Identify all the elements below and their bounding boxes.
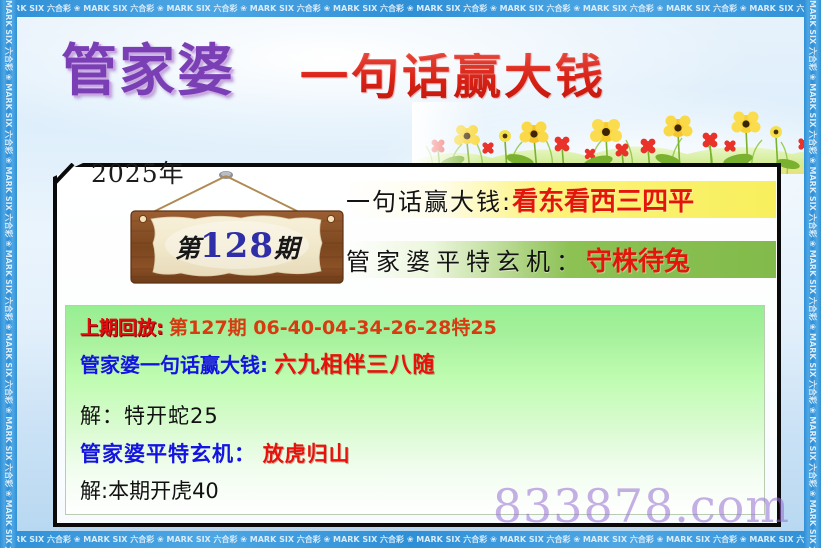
banner-pingte-value: 守株待兔: [586, 241, 690, 278]
border-left: MARK SIX 六合彩 ❀ MARK SIX 六合彩 ❀ MARK SIX 六…: [0, 0, 17, 548]
last-slogan-label: 管家婆一句话赢大钱:: [80, 353, 268, 377]
border-top-text: MARK SIX 六合彩 ❀ MARK SIX 六合彩 ❀ MARK SIX 六…: [0, 4, 821, 13]
previous-results-box: 上期回放: 第127期 06-40-04-34-26-28特25 管家婆一句话赢…: [65, 305, 765, 515]
banner-pingte-row: 管家婆平特玄机：守株待兔: [346, 241, 776, 278]
border-right-text: MARK SIX 六合彩 ❀ MARK SIX 六合彩 ❀ MARK SIX 六…: [804, 0, 821, 548]
border-bottom: MARK SIX 六合彩 ❀ MARK SIX 六合彩 ❀ MARK SIX 六…: [0, 531, 821, 548]
banner-slogan-row: 一句话赢大钱:看东看西三四平: [346, 181, 776, 218]
banner-pingte-label: 管家婆平特玄机：: [346, 242, 586, 277]
last-issue-label: 上期回放:: [80, 317, 164, 339]
last-slogan-row: 管家婆一句话赢大钱: 六九相伴三八随: [80, 355, 764, 377]
border-bottom-text: MARK SIX 六合彩 ❀ MARK SIX 六合彩 ❀ MARK SIX 六…: [0, 535, 821, 544]
last-pingte-row: 管家婆平特玄机： 放虎归山: [80, 444, 764, 465]
last-slogan-explain: 解：特开蛇25: [80, 406, 764, 427]
issue-number: 128: [200, 226, 274, 266]
last-pingte-explain: 解:本期开虎40: [80, 481, 764, 502]
background-sky: 管家婆 一句话赢大钱 2025年: [17, 17, 804, 531]
last-pingte-value: 放虎归山: [263, 442, 351, 466]
issue-suffix: 期: [274, 234, 299, 263]
issue-prefix: 第: [175, 234, 200, 263]
issue-number-display: 第128期: [157, 229, 317, 263]
page-frame: 管家婆 一句话赢大钱 2025年: [0, 0, 821, 548]
last-issue-numbers: 第127期 06-40-04-34-26-28特25: [169, 317, 497, 339]
border-right: MARK SIX 六合彩 ❀ MARK SIX 六合彩 ❀ MARK SIX 六…: [804, 0, 821, 548]
border-left-text: MARK SIX 六合彩 ❀ MARK SIX 六合彩 ❀ MARK SIX 六…: [0, 0, 17, 548]
site-slogan-title: 一句话赢大钱: [300, 53, 606, 101]
banner-slogan-value: 看东看西三四平: [512, 181, 694, 218]
border-top: MARK SIX 六合彩 ❀ MARK SIX 六合彩 ❀ MARK SIX 六…: [0, 0, 821, 17]
last-pingte-label: 管家婆平特玄机：: [80, 442, 256, 466]
last-issue-row: 上期回放: 第127期 06-40-04-34-26-28特25: [80, 319, 764, 338]
banner-slogan-label: 一句话赢大钱:: [346, 182, 512, 217]
last-slogan-value: 六九相伴三八随: [274, 353, 435, 378]
site-brand-title: 管家婆: [61, 44, 235, 100]
